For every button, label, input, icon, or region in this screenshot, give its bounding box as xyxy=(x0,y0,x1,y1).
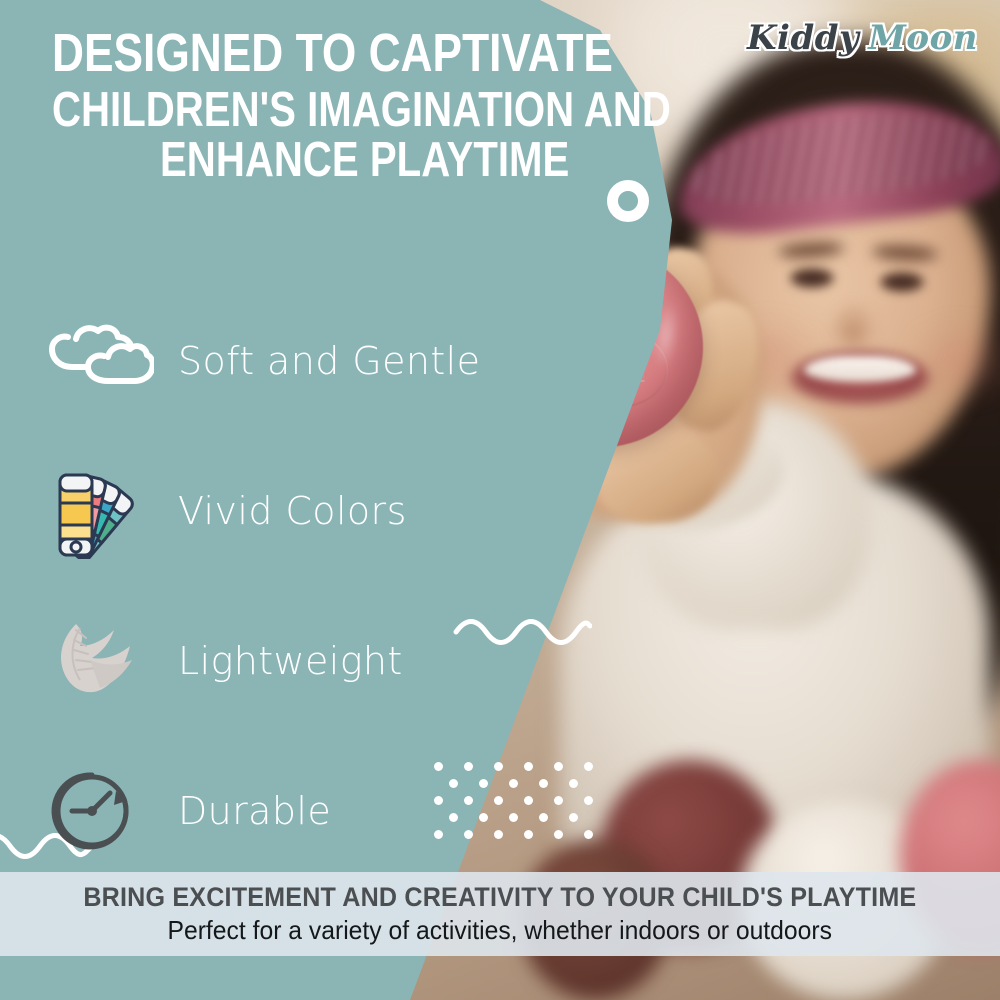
feature-label: Lightweight xyxy=(178,639,403,683)
brand-logo-moon: Moon xyxy=(868,18,978,58)
headline-line-1: DESIGNED TO CAPTIVATE xyxy=(52,28,511,79)
brand-logo-kiddy: Kiddy xyxy=(747,18,859,58)
feature-item-durable: Durable xyxy=(44,736,514,886)
girl-nose xyxy=(828,300,878,346)
caption-subtitle: Perfect for a variety of activities, whe… xyxy=(168,915,832,946)
feature-item-soft-and-gentle: Soft and Gentle xyxy=(44,286,514,436)
headline: DESIGNED TO CAPTIVATE CHILDREN'S IMAGINA… xyxy=(52,28,612,183)
girl-eye-left xyxy=(790,268,834,288)
feature-list: Soft and Gentle xyxy=(44,286,514,886)
color-swatch-fan-icon xyxy=(44,463,156,559)
feature-item-vivid-colors: Vivid Colors xyxy=(44,436,514,586)
bottom-caption-bar: BRING EXCITEMENT AND CREATIVITY TO YOUR … xyxy=(0,872,1000,956)
clock-refresh-icon xyxy=(44,763,156,859)
feature-label: Soft and Gentle xyxy=(178,339,480,383)
brand-logo: Kiddy Moon xyxy=(747,18,978,58)
feature-label: Vivid Colors xyxy=(178,489,407,533)
headline-line-3: ENHANCE PLAYTIME xyxy=(160,137,531,183)
feature-item-lightweight: Lightweight xyxy=(44,586,514,736)
feature-label: Durable xyxy=(178,789,331,833)
headline-line-2: CHILDREN'S IMAGINATION AND xyxy=(52,87,511,133)
caption-title: BRING EXCITEMENT AND CREATIVITY TO YOUR … xyxy=(83,882,916,913)
product-marketing-banner: Kiddy Moon Kiddy Moon DESIGNED TO CAP xyxy=(0,0,1000,1000)
girl-eye-right xyxy=(880,272,924,292)
cloud-icon xyxy=(44,313,156,409)
circle-outline-icon xyxy=(607,180,649,222)
feather-icon xyxy=(44,613,156,709)
